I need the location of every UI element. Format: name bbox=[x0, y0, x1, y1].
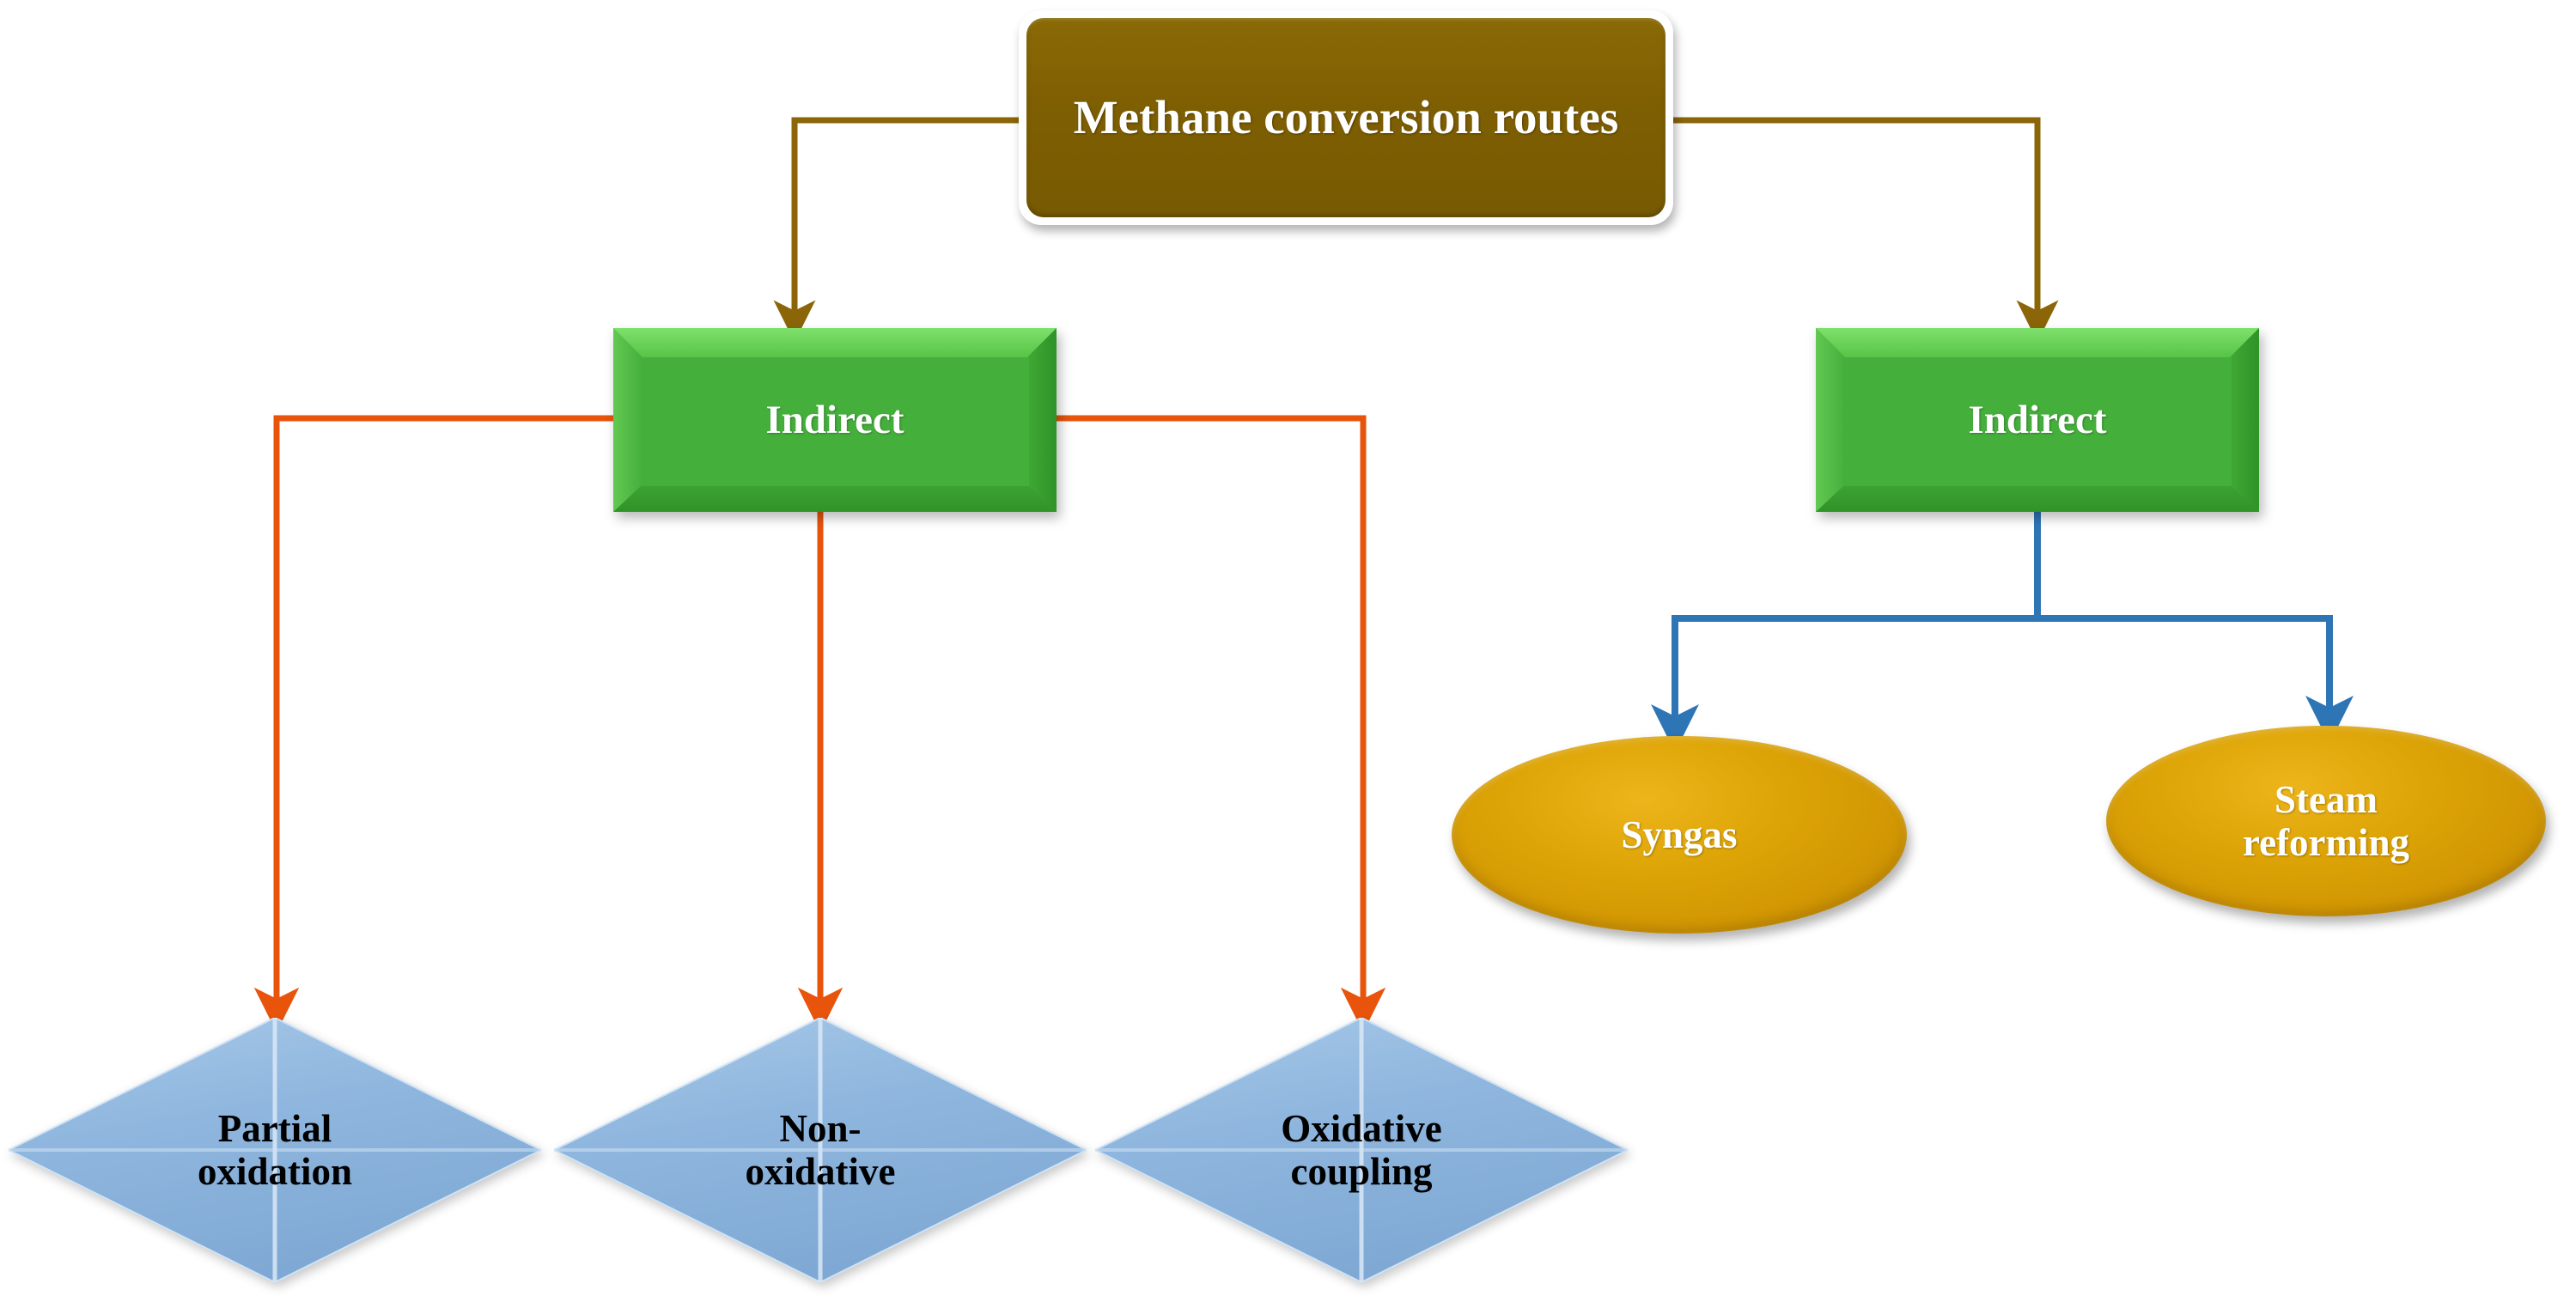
connector-right-to-steam-reforming bbox=[2037, 618, 2329, 720]
connector-left-to-oxidative-coupling bbox=[1057, 418, 1363, 1010]
node-indirect-right[interactable]: Indirect bbox=[1816, 328, 2259, 512]
node-syngas[interactable]: Syngas bbox=[1452, 736, 1907, 934]
node-partial-oxidation-label: Partial oxidation bbox=[198, 1107, 352, 1194]
connector-left-to-partial-oxidation bbox=[277, 418, 613, 1010]
flowchart-canvas: Methane conversion routes Indirect Indir… bbox=[0, 0, 2576, 1296]
node-indirect-left[interactable]: Indirect bbox=[613, 328, 1057, 512]
connector-root-to-right-branch bbox=[1673, 120, 2037, 321]
node-steam-reforming[interactable]: Steam reforming bbox=[2106, 726, 2546, 916]
node-non-oxidative-label: Non- oxidative bbox=[746, 1107, 896, 1194]
connector-root-to-left-branch bbox=[795, 120, 1019, 321]
node-oxidative-coupling-label: Oxidative coupling bbox=[1281, 1107, 1442, 1194]
connector-right-to-syngas bbox=[1675, 618, 2037, 728]
node-oxidative-coupling[interactable]: Oxidative coupling bbox=[1095, 1018, 1628, 1282]
green-node-right-facet bbox=[2232, 328, 2259, 512]
node-indirect-right-label: Indirect bbox=[1968, 398, 2106, 443]
green-node-left-facet bbox=[1816, 328, 1843, 512]
node-non-oxidative[interactable]: Non- oxidative bbox=[554, 1018, 1087, 1282]
node-steam-reforming-label: Steam reforming bbox=[2243, 778, 2409, 865]
green-node-right-facet bbox=[1029, 328, 1057, 512]
root-node-label: Methane conversion routes bbox=[1074, 91, 1618, 144]
node-methane-conversion-routes[interactable]: Methane conversion routes bbox=[1019, 10, 1673, 225]
node-indirect-left-label: Indirect bbox=[765, 398, 904, 443]
node-syngas-label: Syngas bbox=[1621, 813, 1737, 856]
node-partial-oxidation[interactable]: Partial oxidation bbox=[9, 1018, 541, 1282]
green-node-left-facet bbox=[613, 328, 641, 512]
